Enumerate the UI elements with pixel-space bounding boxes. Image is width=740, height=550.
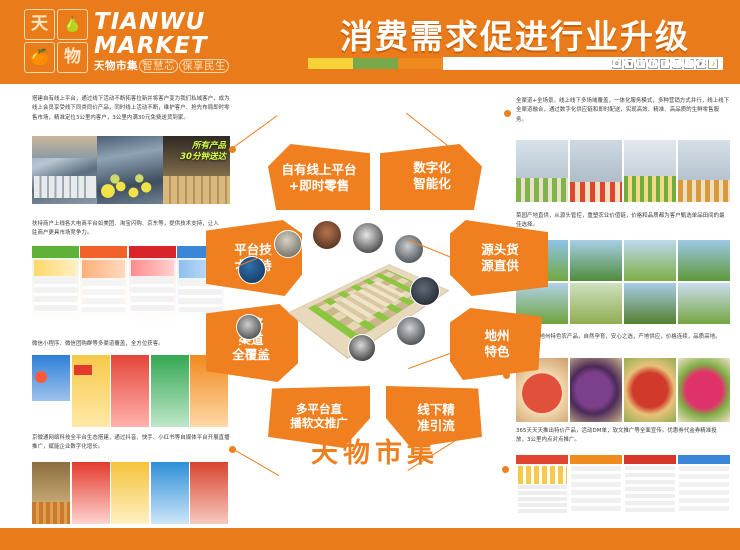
jd-app-screenshot [129,246,176,324]
pear-icon: 🍐 [57,9,88,40]
logo-grid: 天 🍐 🍊 物 [24,9,88,73]
livestream-poster-2 [111,462,149,524]
bar-segment-yellow [308,58,353,69]
bar-segment-green [353,58,398,69]
petal-digital[interactable]: 数字化 智能化 [380,144,482,210]
header-brand-en: TIANWU MARKET [610,57,716,70]
qr-scan-icon [352,222,384,254]
vineyard-photo [570,283,622,324]
delivery-van-fleet-photo [32,136,97,204]
store-interior-photo [32,462,70,524]
block-instant-retail-text: 搭建自有线上平台，通过线下活动不断拓客拉新并将客户变为我们私域客户，成为线上会员… [32,95,230,123]
logo-brand-en-line1: TIANWU [94,11,229,34]
connector-dot-3 [229,338,236,345]
pos-terminal-icon [348,334,376,362]
connector-dot-4 [229,446,236,453]
connector-dot-5 [504,110,511,117]
laptop-user-icon [312,220,342,250]
petal-local-label: 地州 特色 [458,328,536,359]
logo-brand-cn: 天物市集 [94,60,138,72]
poster-title: 消费需求促进行业升级 [300,10,730,58]
livestream-poster-3 [151,462,189,524]
fresh-counter-photo [624,140,676,202]
orchard-photo [624,240,676,281]
apple-photo [624,358,676,422]
storefront-icon [396,316,426,346]
petal-livestream-label: 多平台直 播软文推广 [274,402,364,431]
smartwatch-icon [410,276,440,306]
livestream-poster-1 [72,462,110,524]
market-entrance-photo [570,140,622,202]
logo-brand-cn-row: 天物市集智慧芯保享民生 [94,61,229,72]
connector-dot-2 [229,266,236,273]
shopper-icon [274,230,302,258]
livestream-poster-4 [190,462,228,524]
rider-street-photo [97,136,162,204]
group-buy-poster [72,355,110,427]
grapes-photo [570,358,622,422]
meituan-app-screenshot [32,246,79,324]
connector-dot-7 [503,372,510,379]
leaflet-photo [678,455,730,523]
market-hall-photo [678,140,730,202]
petal-source[interactable]: 源头货 源直供 [450,220,548,296]
greenhouse-photo [570,240,622,281]
block-livestream-growth-photo [32,462,228,524]
basket-icon [236,314,262,340]
petal-source-label: 源头货 源直供 [456,242,544,273]
petal-local[interactable]: 地州 特色 [450,308,542,380]
poster-footer [0,528,740,550]
connector-dot-8 [502,466,509,473]
farmland-photo [624,283,676,324]
logo-tagline-2: 保享民生 [179,59,229,73]
block-omnichannel-text: 全渠道+全场景，线上线下多场域覆盖，一体化服务模式，多种营销方式并行，线上线下全… [516,97,730,125]
promo-flyer-2 [151,355,189,427]
taobao-app-screenshot [80,246,127,324]
petal-self-platform-label: 自有线上平台 +即时零售 [274,162,364,193]
connector-dot-1 [229,146,236,153]
petal-self-platform[interactable]: 自有线上平台 +即时零售 [268,144,370,210]
orange-icon: 🍊 [24,42,55,73]
promo-flyer-1 [111,355,149,427]
wheel-center-title: 天物市集 [196,431,554,470]
logo-cell-wu: 物 [57,42,88,73]
petal-digital-label: 数字化 智能化 [388,160,476,191]
capability-wheel: 自有线上平台 +即时零售 数字化 智能化 源头货 源直供 地州 特色 线下精 准… [196,138,554,468]
brand-logo: 天 🍐 🍊 物 TIANWU MARKET 天物市集智慧芯保享民生 [24,6,274,76]
wechat-miniprogram-screenshot [32,355,70,427]
logo-tagline-1: 智慧芯 [139,59,178,73]
dragonfruit-photo [678,358,730,422]
poster-header: 天 🍐 🍊 物 TIANWU MARKET 天物市集智慧芯保享民生 消费需求促进… [0,0,740,84]
logo-brand-en-line2: MARKET [94,35,229,58]
petal-offline-label: 线下精 准引流 [398,402,474,433]
bar-segment-orange [398,58,443,69]
infographic-poster: 天 🍐 🍊 物 TIANWU MARKET 天物市集智慧芯保享民生 消费需求促进… [0,0,740,550]
price-list-photo [624,455,676,523]
connector-dot-6 [503,232,510,239]
logo-cell-tian: 天 [24,9,55,40]
harvest-photo [678,240,730,281]
plantation-photo [678,283,730,324]
coupon-sheet-photo [570,455,622,523]
